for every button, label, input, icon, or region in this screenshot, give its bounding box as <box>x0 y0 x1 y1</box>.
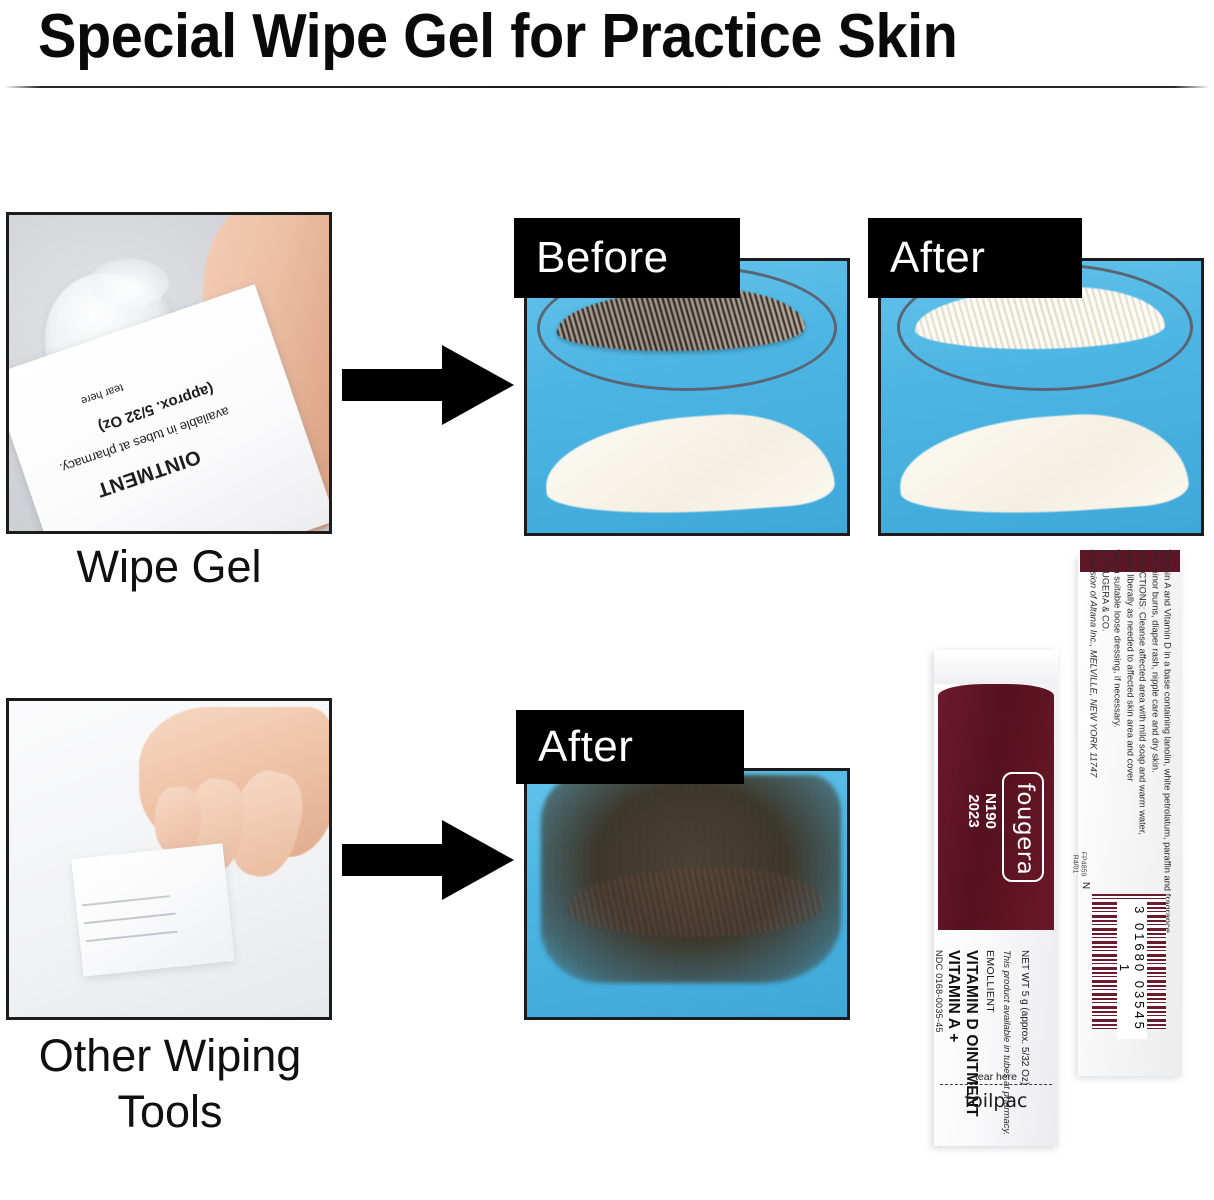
photo-gauze-pad <box>6 698 332 1020</box>
packet-crimp-edge <box>934 650 1058 684</box>
packet-code-text: FP4859 R4/01 <box>1070 852 1086 877</box>
arrow-head <box>442 820 514 900</box>
right-arrow-icon-bottom <box>342 820 514 900</box>
caption-wipe-gel: Wipe Gel <box>6 540 332 594</box>
brand-name: fougera <box>1012 774 1038 884</box>
photo-brow-before <box>524 258 850 536</box>
photo-wipe-gel-packet: tear here (approx. 5/32 Oz) available in… <box>6 212 332 534</box>
label-after-other-tools: After <box>516 710 744 784</box>
gauze-fold-line <box>82 895 170 906</box>
fougera-logo: fougera <box>1002 772 1044 882</box>
barcode: N 3 01680 03545 1 <box>1092 894 1166 1030</box>
page-title: Special Wipe Gel for Practice Skin <box>38 2 957 72</box>
caption-line-1: Other Wiping <box>0 1028 340 1084</box>
tear-here-label: tear here <box>934 1071 1058 1083</box>
label-after: After <box>868 218 1082 298</box>
page-header: Special Wipe Gel for Practice Skin <box>0 0 1214 100</box>
caption-line-2: Tools <box>0 1084 340 1140</box>
tear-line <box>940 1084 1052 1085</box>
arrow-head <box>442 345 514 425</box>
lot-number: N190 2023 <box>965 773 999 849</box>
product-packet-front: fougera N190 2023 NDC 0168-0035-45 VITAM… <box>934 650 1058 1146</box>
product-packet-back: Vitamin A and Vitamin D in a base contai… <box>1078 556 1182 1076</box>
caption-other-wiping-tools: Other Wiping Tools <box>0 1028 340 1140</box>
right-arrow-icon-top <box>342 345 514 425</box>
gauze-pad <box>71 843 235 976</box>
packet-maroon-band: fougera N190 2023 <box>938 684 1054 930</box>
foilpac-label: foilpac <box>934 1090 1058 1112</box>
barcode-digits: 3 01680 03545 1 <box>1117 899 1147 1039</box>
arrow-shaft <box>342 844 454 876</box>
barcode-prefix: N <box>1080 882 1091 889</box>
photo-brow-after <box>878 258 1204 536</box>
label-before: Before <box>514 218 740 298</box>
photo-brow-after-other-tools <box>524 768 850 1020</box>
arrow-shaft <box>342 369 454 401</box>
title-divider <box>4 86 1210 88</box>
packet-tear-here-text: tear here <box>79 381 125 407</box>
